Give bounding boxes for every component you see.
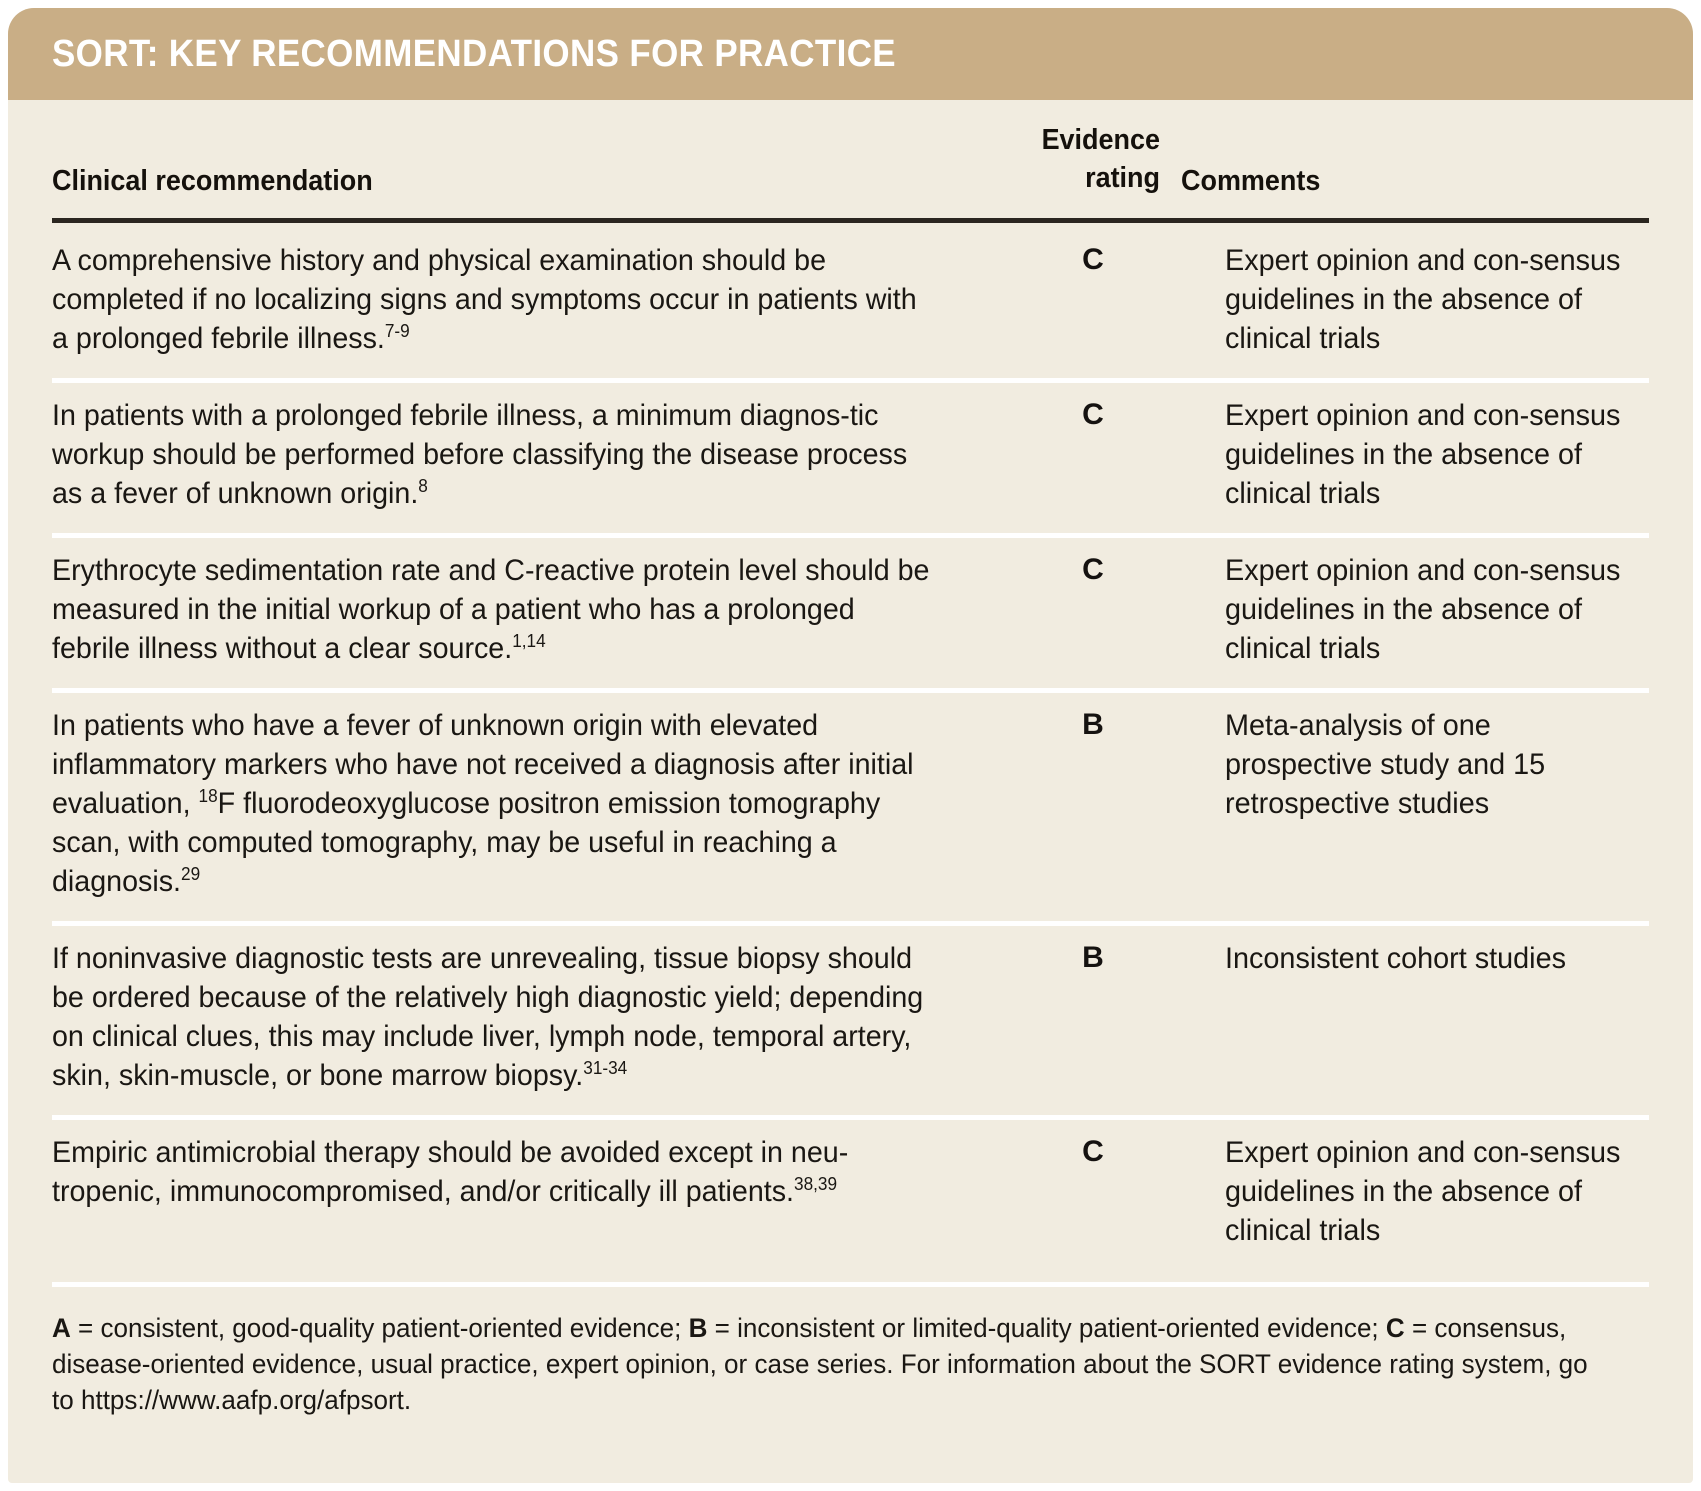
recommendation-reference: 38,39: [794, 1174, 837, 1194]
recommendation-reference: 1,14: [512, 631, 545, 651]
rating-b-text: = inconsistent or limited-quality patien…: [707, 1313, 1386, 1343]
cell-evidence-rating: C: [982, 396, 1204, 513]
recommendation-reference: 7-9: [385, 321, 410, 341]
comments-text: Meta-analysis of one prospective study a…: [1225, 706, 1632, 823]
comments-text: Inconsistent cohort studies: [1225, 939, 1632, 978]
comments-text: Expert opinion and con-sensus guidelines…: [1225, 396, 1632, 513]
sort-recommendations-table: SORT: KEY RECOMMENDATIONS FOR PRACTICE C…: [8, 8, 1693, 1483]
cell-recommendation: In patients with a prolonged febrile ill…: [52, 396, 982, 513]
rating-a-text: = consistent, good-quality patient-orien…: [71, 1313, 689, 1343]
column-header-recommendation: Clinical recommendation: [52, 165, 373, 198]
column-headers: Clinical recommendation Evidence rating …: [8, 100, 1693, 218]
recommendation-text: In patients with a prolonged febrile ill…: [52, 399, 907, 510]
recommendation-text: A comprehensive history and physical exa…: [52, 244, 917, 355]
column-header-comments: Comments: [1181, 165, 1320, 198]
footnote-block: A = consistent, good-quality patient-ori…: [8, 1287, 1693, 1439]
cell-comments: Expert opinion and con-sensus guidelines…: [1204, 551, 1649, 668]
cell-recommendation: Empiric antimicrobial therapy should be …: [52, 1133, 982, 1250]
rating-c-label: C: [1386, 1313, 1405, 1343]
cell-comments: Expert opinion and con-sensus guidelines…: [1204, 241, 1649, 358]
recommendation-text: If noninvasive diagnostic tests are unre…: [52, 942, 923, 1092]
comments-text: Expert opinion and con-sensus guidelines…: [1225, 551, 1632, 668]
rating-a-label: A: [52, 1313, 71, 1343]
cell-recommendation: If noninvasive diagnostic tests are unre…: [52, 939, 982, 1095]
rating-b-label: B: [689, 1313, 708, 1343]
cell-recommendation: Erythrocyte sedimentation rate and C-rea…: [52, 551, 982, 668]
table-row: In patients with a prolonged febrile ill…: [8, 378, 1693, 533]
cell-evidence-rating: C: [982, 551, 1204, 668]
cell-evidence-rating: B: [982, 939, 1204, 1095]
recommendation-reference: 8: [418, 476, 428, 496]
column-header-evidence-line2: rating: [954, 159, 1160, 198]
cell-comments: Meta-analysis of one prospective study a…: [1204, 706, 1649, 901]
table-row: Empiric antimicrobial therapy should be …: [8, 1115, 1693, 1270]
recommendation-reference: 29: [181, 864, 200, 884]
cell-comments: Expert opinion and con-sensus guidelines…: [1204, 1133, 1649, 1250]
cell-recommendation: In patients who have a fever of unknown …: [52, 706, 982, 901]
recommendation-text: Empiric antimicrobial therapy should be …: [52, 1136, 848, 1208]
isotope-superscript: 18: [199, 786, 218, 806]
column-header-evidence-rating: Evidence rating: [938, 121, 1160, 198]
column-header-evidence-line1: Evidence: [954, 121, 1160, 160]
table-title-bar: SORT: KEY RECOMMENDATIONS FOR PRACTICE: [8, 8, 1693, 100]
recommendation-text: Erythrocyte sedimentation rate and C-rea…: [52, 554, 929, 665]
cell-recommendation: A comprehensive history and physical exa…: [52, 241, 982, 358]
cell-comments: Expert opinion and con-sensus guidelines…: [1204, 396, 1649, 513]
comments-text: Expert opinion and con-sensus guidelines…: [1225, 241, 1632, 358]
cell-comments: Inconsistent cohort studies: [1204, 939, 1649, 1095]
cell-evidence-rating: C: [982, 241, 1204, 358]
table-row: A comprehensive history and physical exa…: [8, 223, 1693, 378]
recommendation-reference: 31-34: [583, 1058, 627, 1078]
cell-evidence-rating: B: [982, 706, 1204, 901]
cell-evidence-rating: C: [982, 1133, 1204, 1250]
table-body: A comprehensive history and physical exa…: [8, 223, 1693, 1270]
table-row: If noninvasive diagnostic tests are unre…: [8, 921, 1693, 1115]
table-row: Erythrocyte sedimentation rate and C-rea…: [8, 533, 1693, 688]
comments-text: Expert opinion and con-sensus guidelines…: [1225, 1133, 1632, 1250]
page-title: SORT: KEY RECOMMENDATIONS FOR PRACTICE: [52, 33, 896, 76]
table-row: In patients who have a fever of unknown …: [8, 688, 1693, 921]
